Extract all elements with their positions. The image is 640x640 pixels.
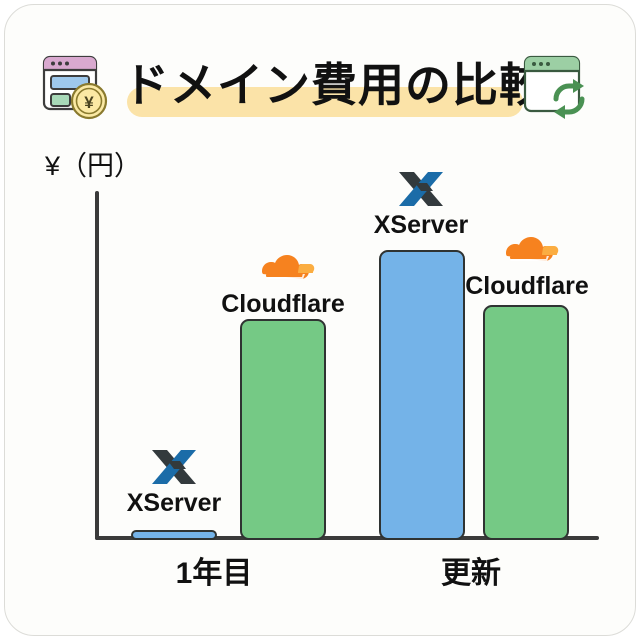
- x-axis-category-renewal: 更新: [371, 548, 571, 592]
- bar-label-cloudflare-first-year: Cloudflare: [203, 290, 363, 319]
- bar-label-xserver-renewal: XServer: [361, 211, 481, 240]
- bar-cloudflare-renewal[interactable]: [483, 305, 569, 540]
- y-axis-label: ¥（円）: [45, 144, 141, 183]
- cloudflare-logo: [489, 227, 565, 269]
- bar-label-cloudflare-renewal: Cloudflare: [447, 272, 607, 301]
- bar-cloudflare-first-year[interactable]: [240, 319, 326, 540]
- bar-chart: ¥（円） XServer Cloudflare 1年目 XServer: [5, 5, 636, 636]
- xserver-logo: [397, 170, 445, 208]
- x-axis-category-first-year: 1年目: [114, 548, 314, 592]
- cloudflare-logo: [245, 245, 321, 287]
- bar-xserver-first-year[interactable]: [131, 530, 217, 540]
- xserver-logo: [150, 448, 198, 486]
- bar-label-xserver-first-year: XServer: [114, 489, 234, 518]
- y-axis-line: [95, 191, 99, 540]
- infographic-card: ¥ ドメイン費用の比較 ¥（円）: [4, 4, 636, 636]
